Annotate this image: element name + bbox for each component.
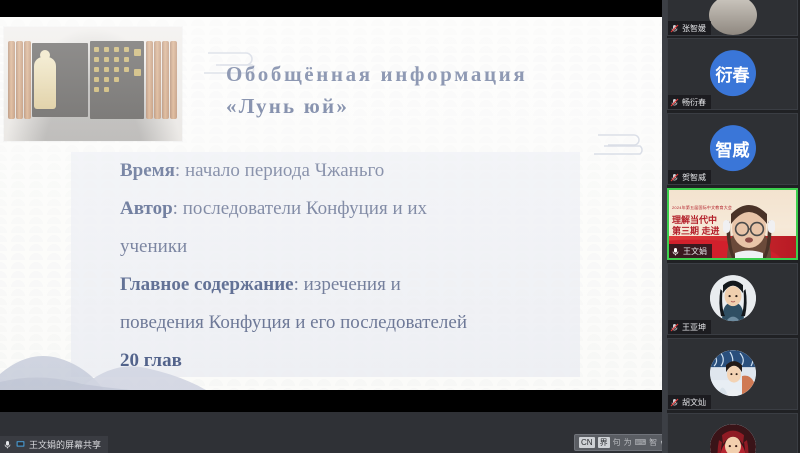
slide-body-text: поведения Конфуция и его последователей: [120, 312, 467, 333]
screen-share-owner: 王文娟的屏幕共享: [29, 438, 101, 451]
muted-microphone-icon: [670, 24, 679, 33]
cloud-ornament-right-icon: [592, 129, 650, 157]
slide-body-line: ученики: [71, 228, 580, 266]
zoom-meeting-window: Обобщённая информация «Лунь юй» Время: н…: [0, 0, 800, 453]
microphone-icon: [3, 440, 12, 449]
slide-body-text: изречения и: [304, 274, 401, 295]
slide-body-text: начало периода Чжаньго: [185, 160, 384, 181]
participant-name-badge: 畅衍春: [668, 95, 711, 109]
avatar: [710, 424, 756, 453]
woman-illustration-avatar: [710, 275, 756, 321]
participant-name-badge: 王文娟: [669, 244, 712, 258]
participant-tile[interactable]: 胡文灿: [667, 338, 798, 410]
presentation-slide: Обобщённая информация «Лунь юй» Время: н…: [0, 17, 662, 390]
participant-name: 王文娟: [683, 246, 707, 257]
ime-glyph[interactable]: ⌨: [635, 438, 647, 447]
slide-body-label: Главное содержание: [120, 274, 294, 295]
participant-video: [709, 0, 757, 35]
participant-tile-active-speaker[interactable]: 2024年第五届国际中文教育大会 理解当代中 第三期 走进: [667, 188, 798, 260]
screen-share-icon: [16, 440, 25, 449]
muted-microphone-icon: [670, 173, 679, 182]
avatar: [710, 350, 756, 396]
slide-body-line: поведения Конфуция и его последователей: [71, 304, 580, 342]
participant-name-badge: 胡文灿: [668, 395, 711, 409]
slide-body-label: Время: [120, 160, 175, 181]
ime-glyph[interactable]: 智: [649, 437, 657, 448]
anime-scene-avatar: [710, 350, 756, 396]
slide-title-line-1: Обобщённая информация: [226, 59, 646, 91]
avatar: 智威: [710, 125, 756, 171]
participant-name-badge: 贺智威: [668, 170, 711, 184]
participant-tile[interactable]: 智威 贺智威: [667, 113, 798, 185]
muted-microphone-icon: [670, 398, 679, 407]
bottom-chrome: 王文娟的屏幕共享: [0, 412, 662, 453]
participant-name-badge: 张智媛: [668, 21, 711, 35]
microphone-icon: [671, 247, 680, 256]
slide-body-sep: :: [175, 160, 185, 181]
participant-name: 胡文灿: [682, 397, 706, 408]
muted-microphone-icon: [670, 323, 679, 332]
avatar: [710, 275, 756, 321]
slide-title: Обобщённая информация «Лунь юй»: [226, 59, 646, 122]
slide-body-text: последователи Конфуция и их: [183, 198, 427, 219]
slide-body-text: ученики: [120, 236, 187, 257]
slide-body-line: Автор: последователи Конфуция и их: [71, 190, 580, 228]
slide-body-sep: :: [294, 274, 304, 295]
red-haired-character-avatar: [710, 424, 756, 453]
video-backdrop-line-2: 第三期 走进: [672, 226, 720, 236]
participant-name: 贺智威: [682, 172, 706, 183]
stage-letterbox-bottom: [0, 390, 662, 412]
slide-body-sep: :: [173, 198, 183, 219]
speaker-face: [721, 198, 777, 260]
ime-glyph[interactable]: 句: [613, 437, 621, 448]
participant-tile[interactable]: 王亚坤: [667, 263, 798, 335]
participant-name-badge: 王亚坤: [668, 320, 711, 334]
ime-glyph[interactable]: 为: [624, 437, 632, 448]
slide-body-line: Время: начало периода Чжаньго: [71, 152, 580, 190]
ime-language-key[interactable]: CN: [579, 437, 595, 448]
participant-name: 王亚坤: [682, 322, 706, 333]
ime-mode-key[interactable]: 界: [598, 437, 610, 448]
slide-body-panel: Время: начало периода Чжаньго Автор: пос…: [71, 152, 580, 377]
participant-tile[interactable]: [667, 413, 798, 453]
slide-body-line: Главное содержание: изречения и: [71, 266, 580, 304]
mountain-silhouette-icon: [0, 348, 330, 390]
slide-title-line-2: «Лунь юй»: [226, 91, 646, 123]
video-backdrop-line-1: 理解当代中: [672, 215, 717, 225]
participant-strip[interactable]: 张智媛 衍春 畅衍春 智威 贺智威: [662, 0, 800, 453]
participant-tile[interactable]: 张智媛: [667, 0, 798, 36]
shared-screen-stage[interactable]: Обобщённая информация «Лунь юй» Время: н…: [0, 0, 662, 412]
muted-microphone-icon: [670, 98, 679, 107]
slide-body-label: Автор: [120, 198, 173, 219]
avatar: 衍春: [710, 50, 756, 96]
participant-name: 张智媛: [682, 23, 706, 34]
participant-tile[interactable]: 衍春 畅衍春: [667, 38, 798, 110]
participant-name: 畅衍春: [682, 97, 706, 108]
bamboo-scroll-photo: [4, 27, 182, 141]
screen-share-label: 王文娟的屏幕共享: [0, 436, 108, 453]
